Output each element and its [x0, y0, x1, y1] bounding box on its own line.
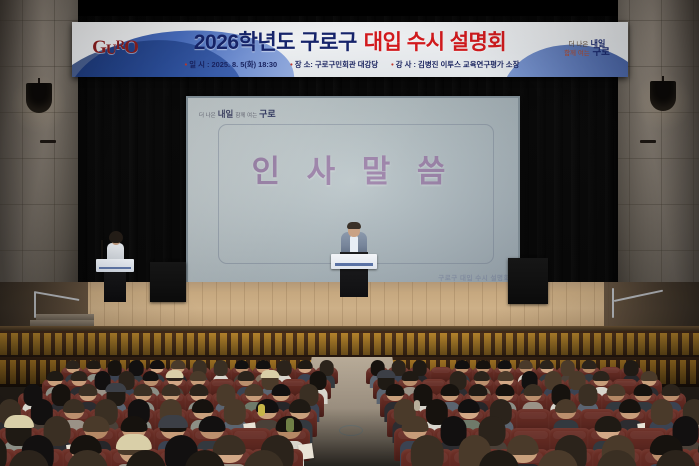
banner-title: 2026학년도 구로구 대입 수시 설명회	[150, 27, 550, 54]
audience-member-hair	[67, 450, 107, 466]
audience-member-hair	[593, 371, 610, 381]
banner-title-navy: 2026학년도 구로구	[194, 26, 357, 56]
stage-floor-plank	[566, 282, 567, 330]
audience-member-hair	[655, 450, 695, 466]
audience-member	[0, 452, 61, 466]
audience-member-hair	[185, 450, 225, 466]
auditorium-photo: GURO 2026학년도 구로구 대입 수시 설명회 일 시 : 2025. 8…	[0, 0, 699, 466]
audience-member-cap	[377, 370, 396, 378]
guro-emblem-g: G	[92, 37, 106, 59]
wall-sconce-right	[640, 140, 656, 143]
banner-subtitle-place: 장 소: 구로구민회관 대강당	[290, 59, 378, 70]
audience-member-cap	[4, 415, 34, 428]
banner-title-red: 대입 수시 설명회	[364, 26, 506, 56]
audience-member-hair	[82, 416, 109, 432]
audience-member-hair	[235, 360, 250, 369]
guro-slogan-line1-small: 더 나은	[569, 41, 589, 48]
stage-floor-plank	[328, 282, 329, 330]
wall-sconce-left	[40, 140, 56, 143]
stage-floor-plank	[132, 282, 133, 330]
audience-bag	[286, 418, 294, 432]
audience-member-hair	[298, 360, 313, 369]
audience-member-hair	[524, 384, 543, 396]
audience-member-hair	[641, 371, 658, 381]
audience-member-hair	[606, 384, 625, 396]
stage-floor-plank	[440, 282, 441, 330]
stage-floor-plank	[202, 282, 203, 330]
guro-slogan-line2-big: 구로	[592, 47, 609, 58]
aisle-floor-marker	[339, 425, 363, 436]
stage-floor-plank	[594, 282, 595, 330]
audience-member	[114, 452, 178, 466]
stage-floor-plank	[230, 282, 231, 330]
audience-member-hair	[662, 384, 681, 396]
stage-front-slats-shading	[0, 331, 699, 357]
audience-member-hair	[150, 360, 165, 369]
guro-emblem-r: R	[116, 37, 124, 53]
wall-seam-horizontal	[607, 20, 699, 21]
audience-member-hair	[198, 416, 225, 432]
audience-member	[232, 452, 296, 466]
audience-member-hair	[272, 384, 291, 396]
stage-floor-plank	[272, 282, 273, 330]
audience-member-hair	[468, 384, 487, 396]
audience-member-hair	[126, 450, 166, 466]
audience-member-hair	[476, 360, 491, 369]
audience-member-hair	[142, 371, 159, 381]
audience-member-hair	[8, 450, 48, 466]
audience-member-hair	[70, 371, 87, 381]
audience-member-hair	[190, 371, 207, 381]
lamp-shade-left	[26, 83, 52, 113]
audience-member-hair	[496, 384, 515, 396]
side-lectern-panel	[96, 259, 134, 272]
audience-member-hair	[213, 360, 228, 376]
stage-floor-shadow-right	[604, 282, 699, 330]
audience-member-hair	[596, 450, 636, 466]
stage-floor-plank	[370, 282, 371, 330]
audience-member-hair	[171, 360, 186, 369]
stage-floor-plank	[216, 282, 217, 330]
audience-member-hair	[402, 416, 429, 432]
wall-seam-horizontal	[0, 204, 86, 205]
banner-subtitle-lecturer: 강 사 : 김병진 이투스 교육연구평가 소장	[391, 59, 519, 70]
audience-member-cap	[261, 370, 280, 378]
guro-slogan-line2: 함께 여는 구로	[564, 48, 610, 58]
audience-member-hair	[134, 384, 153, 396]
stage-floor-plank	[384, 282, 385, 330]
audience-member-hair	[518, 360, 533, 369]
stage-floor-plank	[300, 282, 301, 330]
stage-loudspeaker-right	[508, 258, 548, 304]
stage-floor-plank	[286, 282, 287, 330]
audience-member-hair	[244, 384, 263, 396]
audience-bag	[414, 400, 420, 411]
audience-member-hair	[121, 416, 148, 432]
stage-floor-plank	[468, 282, 469, 330]
stage-floor-plank	[482, 282, 483, 330]
audience-member-hair	[65, 360, 80, 369]
stage-floor-plank	[314, 282, 315, 330]
audience-member-hair	[455, 360, 470, 369]
guro-emblem-u: U	[106, 42, 116, 59]
stage-floor-plank	[244, 282, 245, 330]
stage-floor-plank	[426, 282, 427, 330]
stage-front-slats	[0, 331, 699, 357]
stage-floor-plank	[580, 282, 581, 330]
audience-member-hair	[401, 371, 418, 381]
audience-member-hair	[411, 435, 444, 466]
event-banner: GURO 2026학년도 구로구 대입 수시 설명회 일 시 : 2025. 8…	[72, 22, 628, 77]
audience-member-hair	[554, 399, 576, 413]
handrail-post-right	[612, 288, 614, 318]
guro-slogan-line1-big: 내일	[591, 39, 606, 48]
audience-member-hair	[238, 371, 255, 381]
audience-member-hair	[473, 371, 490, 381]
stage-floor-plank	[258, 282, 259, 330]
main-lectern	[340, 252, 368, 297]
host-hair	[109, 231, 123, 243]
main-lectern-panel	[331, 254, 377, 269]
audience-member-hair	[458, 399, 480, 413]
presenter-hair	[347, 222, 361, 229]
audience-member-hair	[79, 384, 98, 396]
side-lectern	[104, 262, 126, 302]
audience-member-hair	[192, 399, 214, 413]
audience-member-cap	[158, 415, 188, 428]
wall-seam-horizontal	[607, 204, 699, 205]
audience-member-hair	[497, 360, 512, 369]
audience-member	[644, 452, 699, 466]
seat-highlight	[519, 412, 547, 419]
audience-member	[585, 452, 649, 466]
stage-floor-plank	[398, 282, 399, 330]
audience-member	[209, 362, 232, 381]
stage-stair-step-2	[30, 320, 94, 326]
audience-member-cap	[105, 383, 126, 392]
wall-seam-horizontal	[0, 20, 86, 21]
stage-floor-plank	[496, 282, 497, 330]
audience-member-hair	[46, 371, 63, 381]
audience-member-hair	[538, 450, 578, 466]
audience-member-cap	[115, 434, 151, 450]
audience-member-hair	[634, 384, 653, 396]
audience-member-hair	[497, 371, 514, 381]
audience-member-hair	[479, 450, 519, 466]
audience-bag	[258, 404, 265, 416]
lamp-shade-right	[650, 81, 676, 111]
audience-member-hair	[619, 399, 641, 413]
audience-member-hair	[244, 450, 284, 466]
stage-floor-plank	[454, 282, 455, 330]
handrail-post-left	[34, 292, 36, 318]
banner-subtitle-date: 일 시 : 2025. 8. 5(화) 18:30	[185, 59, 277, 70]
audience-member-hair	[256, 360, 271, 369]
audience-member-hair	[86, 360, 101, 369]
audience-member	[55, 452, 119, 466]
banner-subtitle: 일 시 : 2025. 8. 5(화) 18:30 장 소: 구로구민회관 대강…	[132, 56, 572, 72]
stage-floor-plank	[552, 282, 553, 330]
audience-member-hair	[63, 399, 85, 413]
audience-member-hair	[386, 384, 405, 396]
stage-curtain-header	[78, 0, 618, 16]
audience-member	[526, 452, 590, 466]
stage-loudspeaker-left	[150, 262, 186, 302]
guro-slogan-line2-small: 함께 여는	[564, 50, 590, 57]
audience-member-cap	[165, 370, 184, 378]
audience-member-hair	[540, 360, 555, 369]
audience-member-hair	[288, 399, 310, 413]
audience-member-hair	[582, 360, 597, 369]
audience-member-hair	[595, 416, 622, 432]
stage-floor-plank	[188, 282, 189, 330]
wall-seam-horizontal	[607, 158, 699, 159]
guro-slogan-logo: 더 나은 내일 함께 여는 구로	[554, 30, 620, 68]
stage-floor-plank	[146, 282, 147, 330]
audience-member	[173, 452, 237, 466]
audience-member	[401, 437, 453, 466]
wall-seam-horizontal	[0, 250, 86, 251]
wall-seam-horizontal	[0, 158, 86, 159]
audience-member	[467, 452, 531, 466]
audience-member-hair	[441, 384, 460, 396]
audience-member-hair	[189, 384, 208, 396]
stage-floor-plank	[412, 282, 413, 330]
wall-seam-horizontal	[607, 250, 699, 251]
audience-member-hair	[162, 384, 181, 396]
